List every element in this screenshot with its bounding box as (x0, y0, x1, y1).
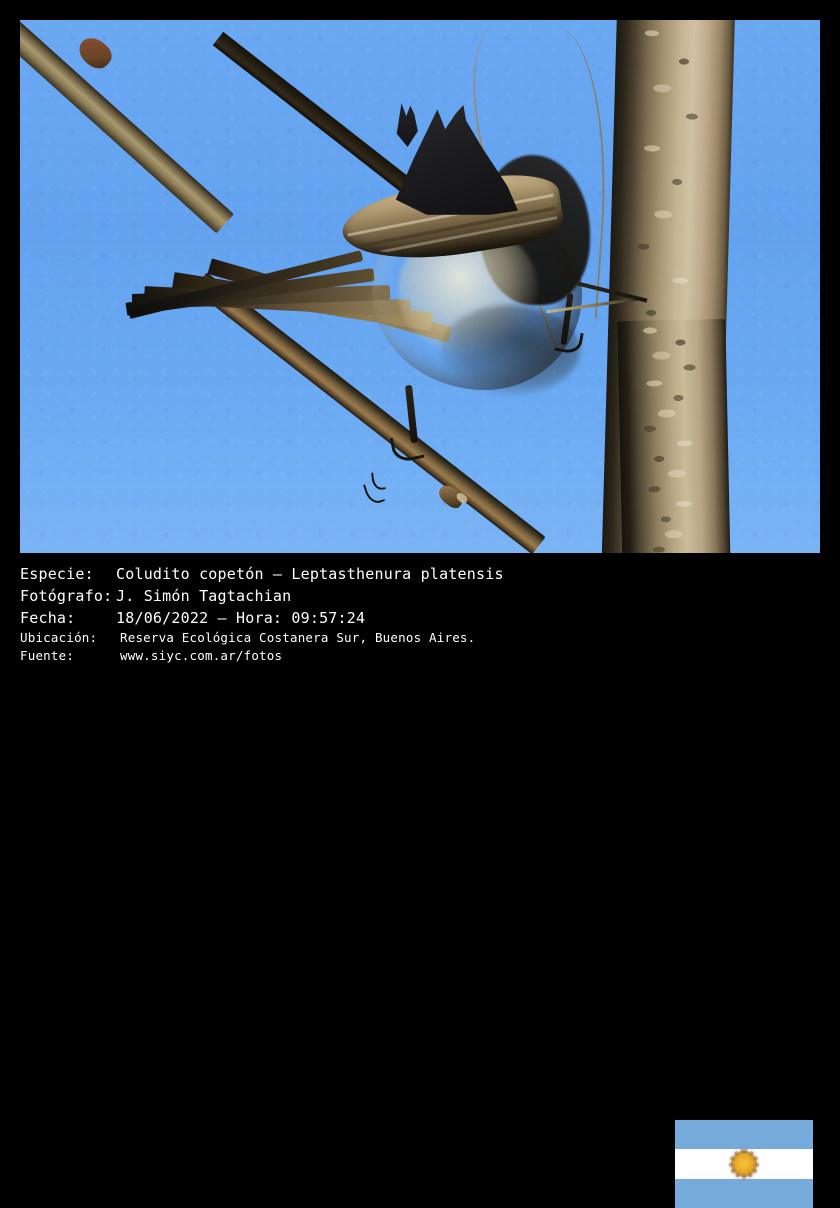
caption-label-fotografo: Fotógrafo: (20, 589, 116, 604)
flag-stripe-bottom (675, 1179, 813, 1208)
caption-label-especie: Especie: (20, 567, 116, 582)
caption-value-fotografo: J. Simón Tagtachian (116, 587, 291, 605)
bark-texture-lower (617, 319, 730, 553)
caption-label-fecha: Fecha: (20, 611, 116, 626)
caption-row-fuente: Fuente:www.siyc.com.ar/fotos (20, 650, 282, 663)
sun-of-may-icon (733, 1153, 755, 1175)
caption-row-fecha: Fecha:18/06/2022 — Hora: 09:57:24 (20, 611, 365, 626)
bird-coludito-copeton (320, 95, 600, 425)
caption-row-ubicacion: Ubicación:Reserva Ecológica Costanera Su… (20, 632, 475, 645)
page-root: Especie:Coludito copetón — Leptasthenura… (0, 0, 840, 668)
caption-value-fecha: 18/06/2022 — Hora: 09:57:24 (116, 609, 365, 627)
caption-value-especie: Coludito copetón — Leptasthenura platens… (116, 565, 504, 583)
caption-row-especie: Especie:Coludito copetón — Leptasthenura… (20, 567, 504, 582)
tree-trunk-lower (617, 319, 730, 553)
flag-stripe-top (675, 1120, 813, 1149)
caption-row-fotografo: Fotógrafo:J. Simón Tagtachian (20, 589, 291, 604)
caption-label-fuente: Fuente: (20, 650, 120, 663)
bird-photograph (20, 20, 820, 553)
caption-value-fuente: www.siyc.com.ar/fotos (120, 648, 282, 663)
caption-label-ubicacion: Ubicación: (20, 632, 120, 645)
caption-panel: Especie:Coludito copetón — Leptasthenura… (0, 553, 840, 668)
caption-value-ubicacion: Reserva Ecológica Costanera Sur, Buenos … (120, 630, 475, 645)
argentina-flag-icon (675, 1120, 813, 1208)
